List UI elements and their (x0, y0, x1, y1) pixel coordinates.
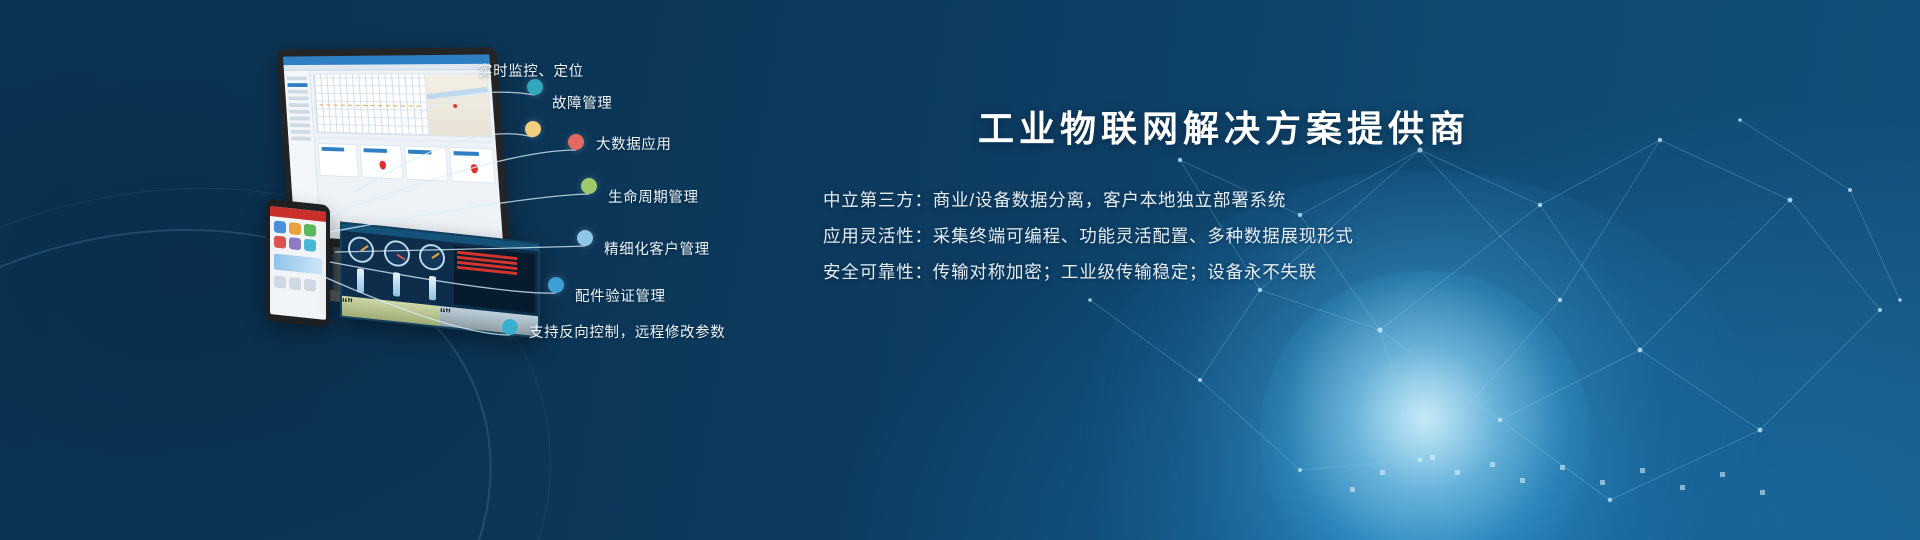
tank-row (346, 267, 447, 302)
feature-node-label: 支持反向控制，远程修改参数 (529, 321, 725, 342)
sidebar-row (288, 90, 308, 94)
hero-text-panel: 工业物联网解决方案提供商 中立第三方：商业/设备数据分离，客户本地独立部署系统应… (815, 0, 1920, 540)
feature-node-label: 配件验证管理 (575, 285, 666, 306)
feature-node-label: 精细化客户管理 (604, 238, 710, 259)
sidebar-row (290, 123, 310, 127)
page-title: 工业物联网解决方案提供商 (978, 100, 1470, 152)
app-icon (304, 224, 316, 237)
sidebar-row (291, 136, 311, 140)
feature-description-line: 安全可靠性：传输对称加密；工业级传输稳定；设备永不失联 (823, 254, 1354, 290)
feature-node-label: 大数据应用 (596, 133, 672, 154)
app-icon (274, 220, 286, 233)
feature-node-dot[interactable] (527, 79, 543, 95)
feature-node-label: 实时监控、定位 (478, 60, 584, 81)
app-icon (289, 237, 301, 250)
gauge-icon (419, 243, 445, 272)
status-card (360, 144, 403, 179)
feature-node-dot[interactable] (577, 230, 593, 246)
feature-description-list: 中立第三方：商业/设备数据分离，客户本地独立部署系统应用灵活性：采集终端可编程、… (823, 182, 1354, 290)
feature-node-dot[interactable] (525, 121, 541, 137)
app-icon (274, 275, 286, 288)
feature-node-dot[interactable] (568, 134, 584, 150)
dashboard-gauges-area (342, 231, 451, 307)
status-card (403, 145, 448, 181)
feature-node-dot[interactable] (502, 319, 518, 335)
map-thumbnail (424, 74, 491, 136)
sidebar-row (287, 76, 307, 80)
tank-indicator (357, 268, 364, 293)
phone-icon-grid (270, 216, 326, 257)
phone-mockup (266, 199, 330, 328)
sidebar-row (289, 103, 309, 107)
phone-icon-grid-2 (270, 271, 326, 297)
sidebar-row (290, 130, 310, 134)
app-icon (274, 235, 286, 248)
feature-node-label: 故障管理 (552, 92, 612, 113)
sidebar-row (287, 83, 307, 87)
feature-description-line: 应用灵活性：采集终端可编程、功能灵活配置、多种数据展现形式 (823, 218, 1354, 254)
app-icon (289, 277, 301, 290)
sidebar-row (290, 116, 310, 120)
feature-node-dot[interactable] (581, 178, 597, 194)
tank-indicator (393, 272, 400, 297)
status-card (449, 147, 496, 184)
app-icon (289, 222, 301, 235)
hero-banner: 实时监控、定位故障管理大数据应用生命周期管理精细化客户管理配件验证管理支持反向控… (0, 0, 1920, 540)
feature-node-dot[interactable] (548, 277, 564, 293)
chart-and-map-panel (313, 73, 492, 138)
status-card-row (318, 143, 496, 184)
gauge-icon (348, 235, 374, 264)
feature-node-label: 生命周期管理 (608, 186, 699, 207)
alarm-log-panel (454, 245, 535, 313)
feature-description-line: 中立第三方：商业/设备数据分离，客户本地独立部署系统 (823, 182, 1354, 218)
gauge-row (346, 235, 447, 272)
phone-screen (270, 206, 326, 320)
tank-indicator (429, 276, 436, 301)
timeline-grid (314, 74, 428, 135)
sidebar-row (289, 110, 309, 114)
app-icon (304, 239, 316, 252)
app-icon (304, 279, 316, 292)
gauge-icon (384, 239, 410, 268)
sidebar-row (288, 96, 308, 100)
status-card (318, 143, 360, 178)
